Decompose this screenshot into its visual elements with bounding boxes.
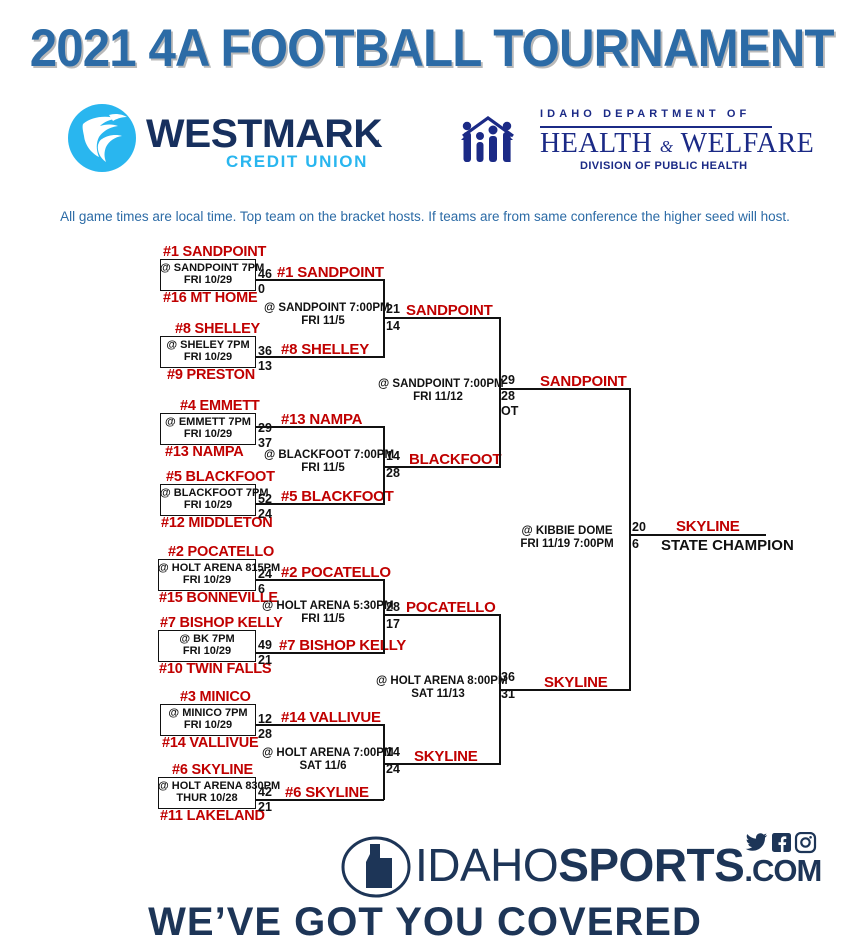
r1-score-bottom: 24 (258, 508, 272, 520)
r1-score-top: 49 (258, 639, 272, 651)
r2-team-top: #2 POCATELLO (281, 565, 391, 580)
r1-date: THUR 10/28 (158, 792, 256, 805)
r1-venue: @ SHELEY 7PM (160, 339, 256, 352)
final-team-top: SANDPOINT (540, 374, 627, 389)
bracket-line (256, 426, 384, 428)
r1-team-bottom: #10 TWIN FALLS (159, 662, 271, 677)
r1-venue: @ EMMETT 7PM (160, 416, 256, 429)
r2-venue: @ HOLT ARENA 7:00PM (262, 747, 384, 760)
brand-idaho: IDAHO (415, 839, 558, 891)
r3-team-bottom: BLACKFOOT (409, 452, 501, 467)
bracket-line (384, 763, 500, 765)
r2-score-top: 14 (386, 450, 400, 462)
final-venue: @ KIBBIE DOME (505, 525, 629, 538)
r2-team-top: #14 VALLIVUE (281, 710, 381, 725)
bracket-line (384, 614, 500, 616)
brand-sports: SPORTS (558, 839, 744, 891)
bracket-line (384, 317, 500, 319)
r3-team-top: SANDPOINT (406, 303, 493, 318)
r1-team-bottom: #14 VALLIVUE (162, 736, 258, 751)
r1-venue: @ SANDPOINT 7PM (160, 262, 256, 275)
r2-venue: @ BLACKFOOT 7:00PM (264, 449, 382, 462)
r1-date: FRI 10/29 (160, 719, 256, 732)
r3-score-bottom: 28 (501, 390, 515, 402)
r3-team-bottom: SKYLINE (414, 749, 478, 764)
r2-score-bottom: 24 (386, 763, 400, 775)
r1-team-bottom: #11 LAKELAND (160, 809, 265, 824)
r1-team-top: #2 POCATELLO (168, 545, 274, 560)
bracket-line (256, 503, 384, 505)
r2-date: SAT 11/6 (262, 760, 384, 773)
brand-dotcom: .COM (744, 853, 821, 888)
r1-date: FRI 10/29 (160, 428, 256, 441)
r2-date: FRI 11/5 (264, 462, 382, 475)
bracket-connector (629, 388, 631, 691)
r2-date: FRI 11/5 (262, 613, 384, 626)
r2-date: FRI 11/5 (264, 315, 382, 328)
r1-score-bottom: 13 (258, 360, 272, 372)
r1-team-top: #3 MINICO (180, 690, 251, 705)
r1-team-bottom: #13 NAMPA (165, 445, 244, 460)
r1-team-top: #4 EMMETT (180, 399, 260, 414)
bracket-line (500, 689, 630, 691)
tournament-bracket: #1 SANDPOINT @ SANDPOINT 7PM FRI 10/29 #… (0, 0, 850, 950)
r3-date: SAT 11/13 (376, 688, 500, 701)
bracket-line (256, 799, 384, 801)
final-score-top: 20 (632, 521, 646, 533)
r1-score-bottom: 21 (258, 654, 272, 666)
social-icons (745, 832, 817, 854)
footer-tagline: WE’VE GOT YOU COVERED (0, 900, 850, 945)
bracket-line (256, 356, 384, 358)
bracket-line (630, 534, 766, 536)
r1-team-bottom: #12 MIDDLETON (161, 516, 273, 531)
r2-venue: @ HOLT ARENA 5:30PM (262, 600, 384, 613)
r1-team-top: #1 SANDPOINT (163, 245, 266, 260)
r3-venue: @ HOLT ARENA 8:00PM (376, 675, 500, 688)
r2-team-top: #13 NAMPA (281, 412, 362, 427)
r2-score-top: 28 (386, 601, 400, 613)
r1-date: FRI 10/29 (160, 351, 256, 364)
r1-score-bottom: 21 (258, 801, 272, 813)
r1-team-top: #6 SKYLINE (172, 763, 253, 778)
r1-team-bottom: #9 PRESTON (167, 368, 255, 383)
r2-score-top: 14 (386, 746, 400, 758)
final-date: FRI 11/19 7:00PM (505, 538, 629, 551)
champion-label: STATE CHAMPION (661, 538, 794, 553)
facebook-icon (772, 833, 791, 852)
r1-score-bottom: 37 (258, 437, 272, 449)
r1-score-bottom: 28 (258, 728, 272, 740)
r2-score-bottom: 28 (386, 467, 400, 479)
r1-venue: @ HOLT ARENA 815PM (158, 562, 256, 575)
bracket-line (256, 279, 384, 281)
r2-team-top: #1 SANDPOINT (277, 265, 384, 280)
r3-score-top: 36 (501, 671, 515, 683)
r2-team-bottom: #8 SHELLEY (281, 342, 369, 357)
bracket-line (500, 388, 630, 390)
r2-score-top: 21 (386, 303, 400, 315)
r3-score-top: 29 (501, 374, 515, 386)
bracket-line (256, 652, 384, 654)
bracket-line (256, 724, 384, 726)
r3-score-note: OT (501, 405, 518, 417)
r1-date: FRI 10/29 (158, 645, 256, 658)
twitter-icon (746, 833, 768, 851)
r2-venue: @ SANDPOINT 7:00PM (264, 302, 382, 315)
r1-score-bottom: 0 (258, 283, 265, 295)
r1-venue: @ HOLT ARENA 830PM (158, 780, 256, 793)
r2-team-bottom: #7 BISHOP KELLY (279, 638, 406, 653)
bracket-line (384, 466, 500, 468)
r1-venue: @ BK 7PM (158, 633, 256, 646)
r1-date: FRI 10/29 (160, 499, 256, 512)
r3-date: FRI 11/12 (378, 391, 498, 404)
champion-name: SKYLINE (676, 519, 740, 534)
r1-score-bottom: 6 (258, 583, 265, 595)
r2-score-bottom: 14 (386, 320, 400, 332)
r1-date: FRI 10/29 (158, 574, 256, 587)
instagram-icon (796, 833, 815, 852)
r1-team-top: #5 BLACKFOOT (166, 470, 275, 485)
r2-team-bottom: #5 BLACKFOOT (281, 489, 394, 504)
r1-date: FRI 10/29 (160, 274, 256, 287)
r3-team-top: POCATELLO (406, 600, 496, 615)
r2-score-bottom: 17 (386, 618, 400, 630)
bracket-line (256, 579, 384, 581)
r1-venue: @ BLACKFOOT 7PM (160, 487, 256, 500)
idahosports-footer: IDAHOSPORTS.COM WE’VE GOT YOU COVERED (0, 826, 850, 950)
r1-score-top: 42 (258, 786, 272, 798)
r1-team-top: #8 SHELLEY (175, 322, 260, 337)
final-team-bottom: SKYLINE (544, 675, 608, 690)
final-score-bottom: 6 (632, 538, 639, 550)
r1-team-bottom: #16 MT HOME (163, 291, 258, 306)
r1-venue: @ MINICO 7PM (160, 707, 256, 720)
r2-team-bottom: #6 SKYLINE (285, 785, 369, 800)
r1-score-top: 29 (258, 422, 272, 434)
r3-venue: @ SANDPOINT 7:00PM (378, 378, 498, 391)
idaho-state-icon (340, 836, 412, 898)
